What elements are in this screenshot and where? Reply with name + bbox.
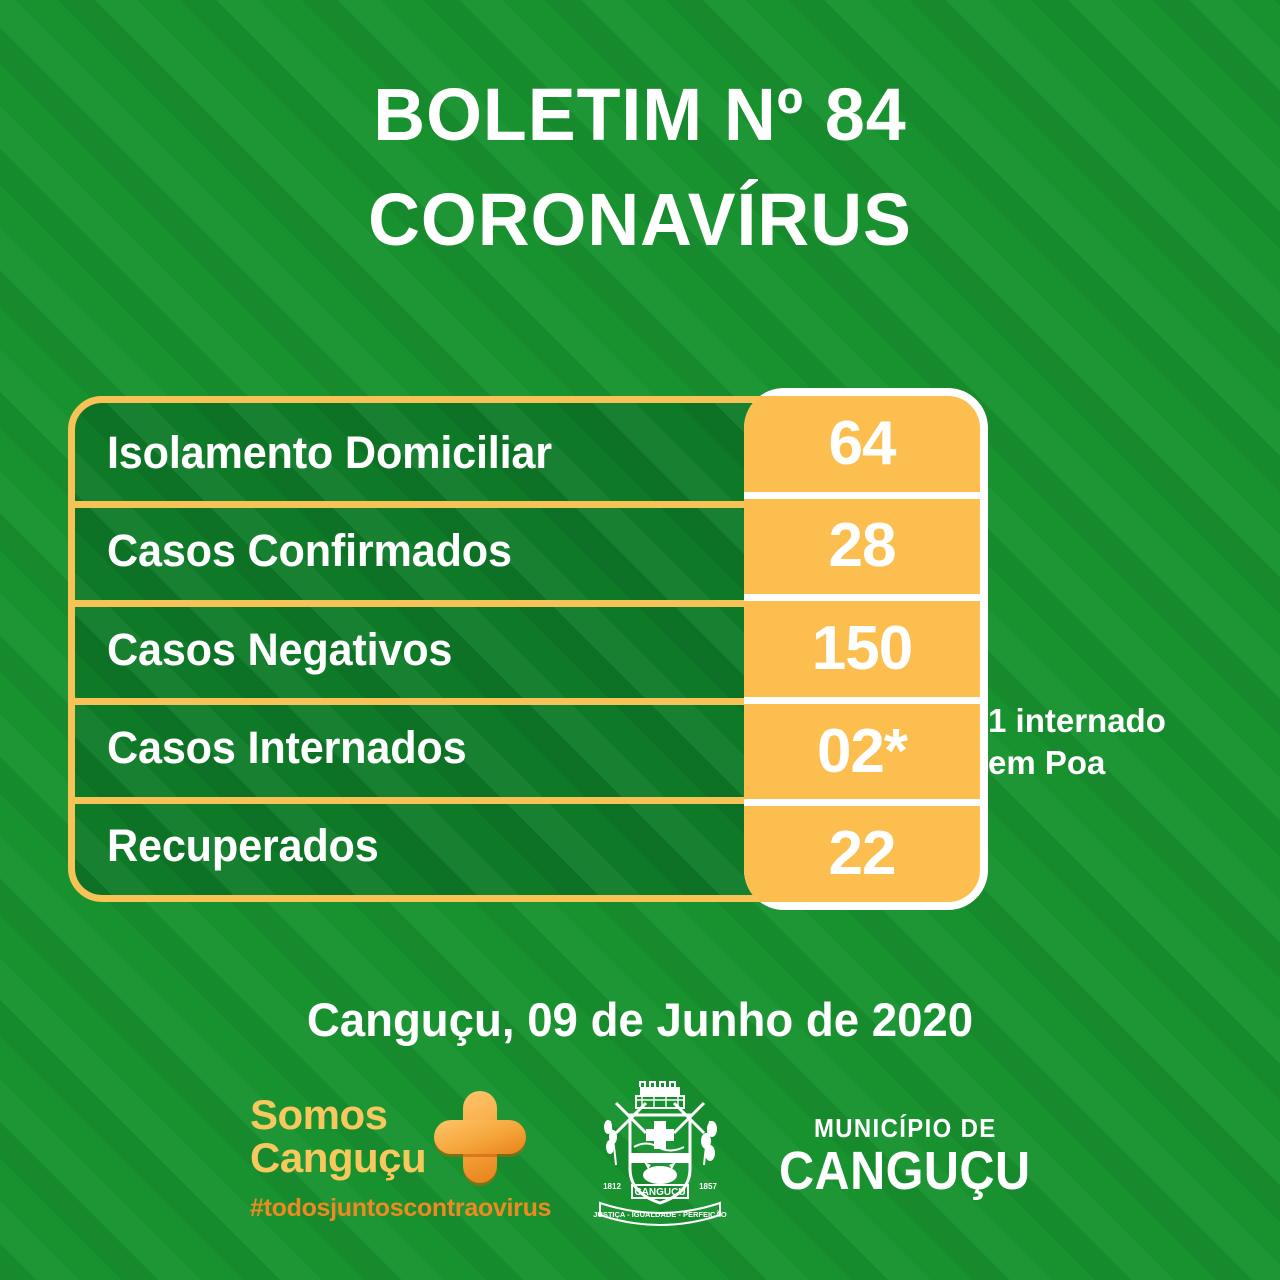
- coronavirus-bulletin-poster: BOLETIM Nº 84 CORONAVÍRUS Isolamento Dom…: [0, 0, 1280, 1280]
- arms-year-left: 1812: [603, 1182, 621, 1191]
- somos-word: Somos: [250, 1094, 426, 1137]
- row-value-casos-internados: 02*: [744, 704, 980, 800]
- row-value-recuperados: 22: [744, 806, 980, 902]
- cangucu-word: Canguçu: [250, 1137, 426, 1180]
- row-label-casos-confirmados: Casos Confirmados: [107, 528, 512, 573]
- statistics-table: Isolamento Domiciliar Casos Confirmados …: [68, 396, 980, 902]
- arms-year-right: 1857: [699, 1182, 717, 1191]
- footnote-line-1: 1 internado: [988, 700, 1238, 742]
- somos-cangucu-wordmark: Somos Canguçu: [250, 1094, 426, 1180]
- campaign-hashtag: #todosjuntoscontraovirus: [250, 1194, 540, 1223]
- municipality-name: CANGUÇU: [779, 1144, 1031, 1199]
- statistics-table-values-column: 64 28 150 02* 22: [744, 388, 988, 910]
- row-label-isolamento-domiciliar: Isolamento Domiciliar: [107, 430, 552, 475]
- municipality-logo: MUNICÍPIO DE CANGUÇU: [780, 1113, 1030, 1199]
- somos-cangucu-logo: Somos Canguçu #todosjuntoscontraovirus: [250, 1076, 540, 1236]
- arms-motto: JUSTIÇA - IGUALDADE - PERFEIÇÃO: [593, 1210, 727, 1219]
- plus-cross-icon: [432, 1089, 528, 1185]
- row-value-isolamento-domiciliar: 64: [744, 396, 980, 492]
- footnote-line-2: em Poa: [988, 742, 1238, 784]
- date-line: Canguçu, 09 de Junho de 2020: [19, 992, 1261, 1047]
- page-title: BOLETIM Nº 84 CORONAVÍRUS: [0, 62, 1280, 272]
- row-value-casos-confirmados: 28: [744, 499, 980, 595]
- title-line-bulletin-number: BOLETIM Nº 84: [19, 62, 1261, 167]
- footnote-internado-poa: 1 internado em Poa: [988, 700, 1238, 784]
- row-label-casos-negativos: Casos Negativos: [107, 627, 452, 672]
- footer-logos: Somos Canguçu #todosjuntoscontraovirus: [0, 1066, 1280, 1246]
- arms-name: CANGUÇU: [634, 1187, 685, 1198]
- title-line-coronavirus: CORONAVÍRUS: [19, 167, 1261, 272]
- row-label-casos-internados: Casos Internados: [107, 725, 466, 770]
- cangucu-coat-of-arms-icon: CANGUÇU 1812 1857 JUSTIÇA - IGUALDADE - …: [586, 1081, 734, 1231]
- row-value-casos-negativos: 150: [744, 601, 980, 697]
- municipality-prefix: MUNICÍPIO DE: [814, 1113, 997, 1144]
- row-label-recuperados: Recuperados: [107, 823, 379, 868]
